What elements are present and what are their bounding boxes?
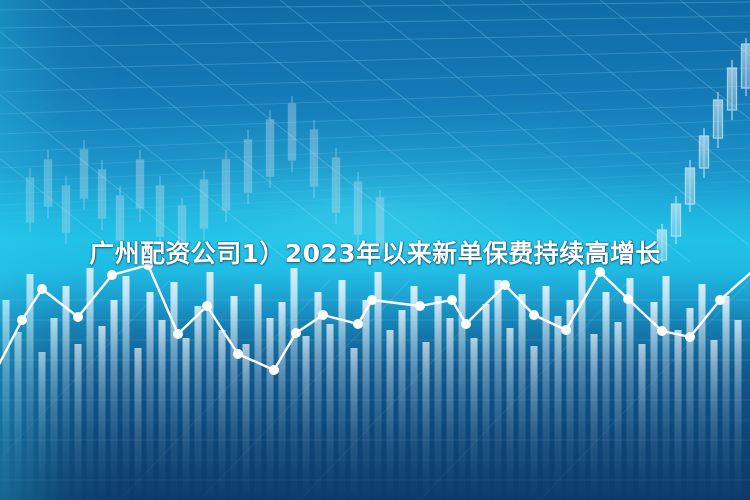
candle-body xyxy=(355,182,362,234)
trend-marker xyxy=(37,284,47,294)
trend-marker xyxy=(291,328,301,338)
trend-marker xyxy=(461,319,471,329)
trend-marker xyxy=(107,270,117,280)
trend-marker xyxy=(447,295,457,305)
candle-body xyxy=(728,68,737,110)
candle-body xyxy=(333,158,340,212)
candle-body xyxy=(686,168,695,204)
trend-marker xyxy=(367,295,377,305)
background-scene xyxy=(0,0,750,500)
trend-marker xyxy=(685,332,695,342)
trend-marker xyxy=(269,365,279,375)
trend-marker xyxy=(233,349,243,359)
candle-body xyxy=(658,230,667,260)
trend-marker xyxy=(202,301,212,311)
candle-body xyxy=(700,136,709,168)
candle-body xyxy=(137,160,144,208)
candle-body xyxy=(672,204,681,236)
trend-marker xyxy=(415,301,425,311)
trend-marker xyxy=(17,315,27,325)
trend-marker xyxy=(623,294,633,304)
trend-marker xyxy=(353,319,363,329)
candle-body xyxy=(201,180,208,228)
trend-marker xyxy=(500,280,510,290)
trend-marker xyxy=(173,329,183,339)
candle-body xyxy=(245,140,252,192)
trend-marker xyxy=(73,312,83,322)
candle-body xyxy=(377,198,384,248)
trend-marker xyxy=(143,260,153,270)
trend-marker xyxy=(529,310,539,320)
candle-body xyxy=(714,100,723,138)
banner-image: 广州配资公司1）2023年以来新单保费持续高增长 xyxy=(0,0,750,500)
candle-body xyxy=(289,104,296,160)
trend-marker xyxy=(561,325,571,335)
candle-body xyxy=(223,160,230,210)
trend-marker xyxy=(715,295,725,305)
left-glow xyxy=(0,0,120,500)
candle-body xyxy=(179,206,186,250)
candle-body xyxy=(157,186,164,236)
trend-marker xyxy=(657,326,667,336)
trend-marker xyxy=(318,310,328,320)
candle-body xyxy=(311,130,318,186)
candle-body xyxy=(742,44,750,88)
candle-body xyxy=(267,120,274,176)
trend-marker xyxy=(595,267,605,277)
